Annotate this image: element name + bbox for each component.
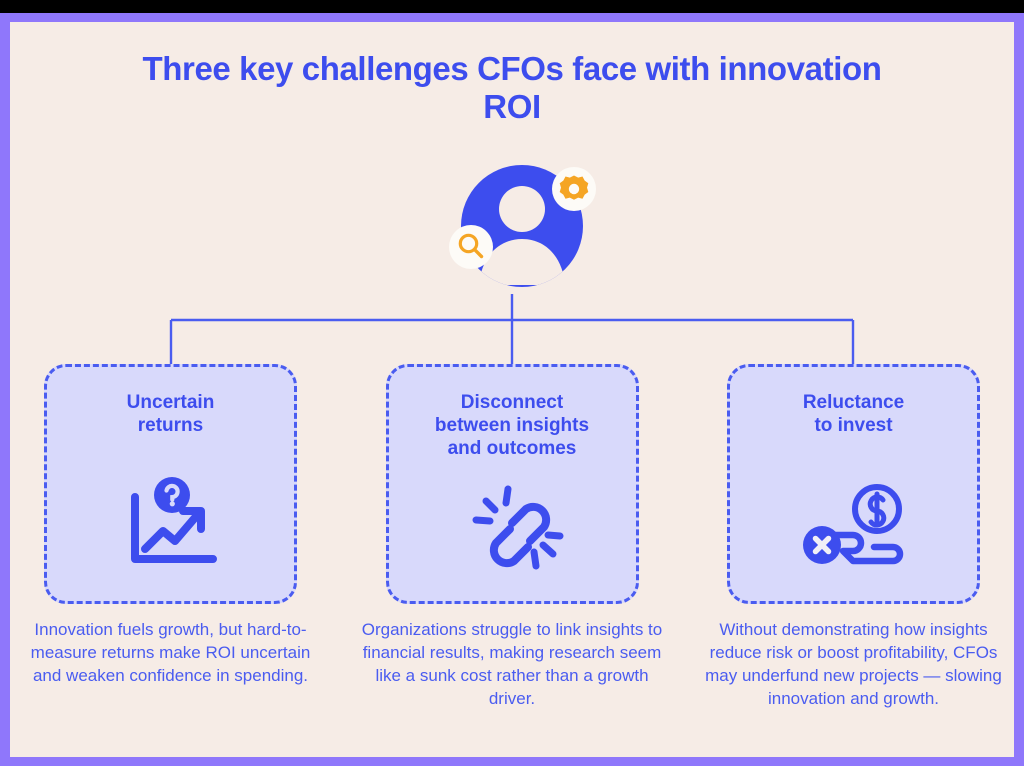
page-title: Three key challenges CFOs face with inno… [10,50,1014,126]
card-title-line: Uncertain [127,392,215,413]
captions-row: Innovation fuels growth, but hard-to-mea… [10,618,1014,710]
card-title-line: Reluctance [803,392,904,413]
card-title-line: Disconnect [461,392,563,413]
user-avatar-icon [457,161,587,291]
caption-disconnect-insights-outcomes: Organizations struggle to link insights … [362,618,663,710]
search-icon [449,225,493,269]
card-title-line: and outcomes [448,438,577,459]
caption-reluctance-to-invest: Without demonstrating how insights reduc… [703,618,1004,710]
card-title-line: between insights [435,415,589,436]
top-black-bar [0,0,1024,13]
card-uncertain-returns[interactable]: Uncertain returns [44,364,297,604]
infographic-canvas: Three key challenges CFOs face with inno… [10,22,1014,757]
card-reluctance-to-invest[interactable]: Reluctance to invest [727,364,980,604]
caption-uncertain-returns: Innovation fuels growth, but hard-to-mea… [20,618,321,710]
purple-frame-border: Three key challenges CFOs face with inno… [0,13,1024,766]
gear-icon [552,167,596,211]
card-disconnect-insights-outcomes[interactable]: Disconnect between insights and outcomes [386,364,639,604]
card-title: Disconnect between insights and outcomes [419,391,605,460]
card-title: Uncertain returns [111,391,231,437]
broken-link-icon [459,479,565,575]
chart-growth-question-icon [118,479,224,575]
infographic-root: Three key challenges CFOs face with inno… [0,0,1024,774]
card-title-line: to invest [814,415,892,436]
card-title-line: returns [138,415,203,436]
cards-row: Uncertain returns [10,364,1014,604]
card-title: Reluctance to invest [787,391,920,437]
hand-money-blocked-icon [801,479,907,575]
